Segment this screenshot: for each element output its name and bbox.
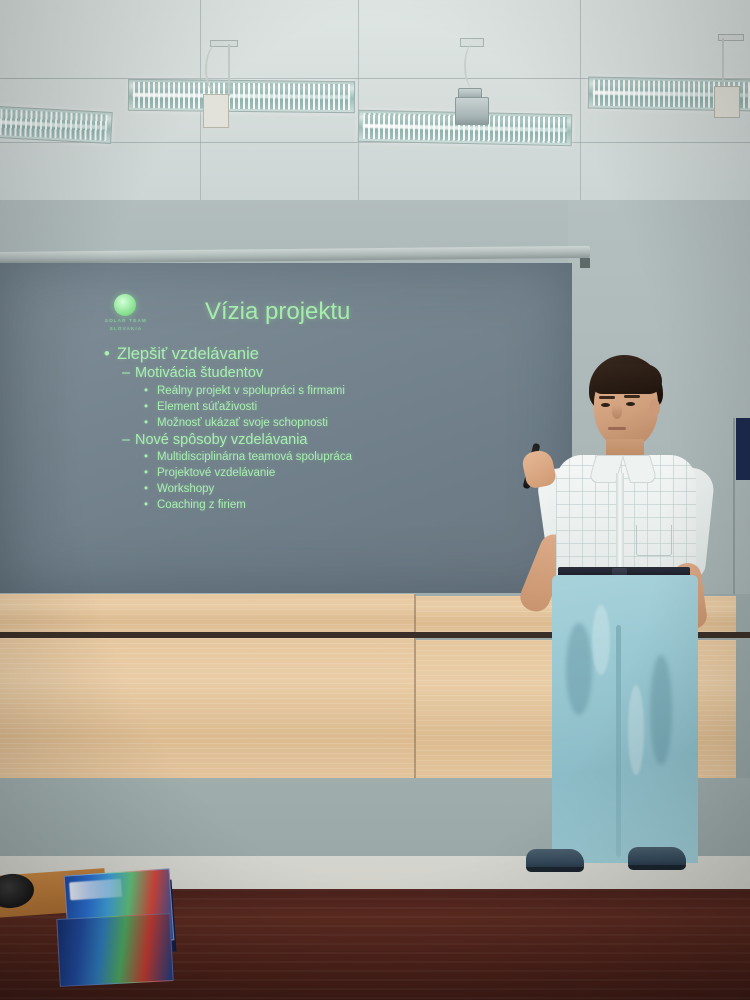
slide-bullet-list: •Zlepšiť vzdelávanie–Motivácia študentov… <box>104 344 524 513</box>
trouser-fold <box>650 655 672 765</box>
slide-bullet-level-3: •Workshopy <box>104 481 524 497</box>
bullet-text: Nové spôsoby vzdelávania <box>135 432 308 448</box>
wood-panel-lower-left <box>0 638 416 778</box>
slide-bullet-level-2: –Motivácia študentov <box>104 364 524 383</box>
shoe-sole-left <box>526 867 584 872</box>
screen-roller-cap <box>580 258 590 268</box>
wood-seam <box>414 594 416 634</box>
bullet-text: Reálny projekt v spolupráci s firmami <box>157 385 345 397</box>
logo-line-1: SOLAR TEAM <box>99 318 153 323</box>
bullet-marker-icon: • <box>144 449 157 465</box>
bullet-marker-icon: • <box>144 481 157 497</box>
slide-bullet-level-2: –Nové spôsoby vzdelávania <box>104 431 524 450</box>
bullet-marker-icon: • <box>144 415 157 431</box>
bullet-text: Zlepšiť vzdelávanie <box>117 345 259 363</box>
slide-bullet-level-3: •Element súťaživosti <box>104 399 524 415</box>
trouser-fold <box>566 623 592 715</box>
wood-seam <box>414 638 416 780</box>
bullet-marker-icon: • <box>144 465 157 481</box>
bullet-marker-icon: – <box>122 364 135 383</box>
slide-title: Vízia projektu <box>205 298 350 326</box>
mouth <box>608 427 626 430</box>
product-box-bottom <box>56 913 173 987</box>
eyebrow <box>624 395 640 398</box>
shirt-pocket <box>636 525 672 556</box>
wood-panel-upper-left <box>0 594 416 632</box>
slide-bullet-level-3: •Projektové vzdelávanie <box>104 465 524 481</box>
bullet-marker-icon: • <box>144 497 157 513</box>
bullet-text: Coaching z firiem <box>157 499 246 511</box>
wall-edge-line <box>733 418 735 600</box>
bullet-text: Workshopy <box>157 483 214 495</box>
bullet-text: Projektové vzdelávanie <box>157 467 275 479</box>
slide-bullet-level-3: •Možnosť ukázať svoje schopnosti <box>104 415 524 431</box>
wall-dark-panel <box>736 418 750 480</box>
bullet-text: Multidisciplinárna teamová spolupráca <box>157 451 352 463</box>
logo-line-2: SLOVAKIA <box>99 326 153 331</box>
bullet-text: Element súťaživosti <box>157 401 257 413</box>
slide-bullet-level-1: •Zlepšiť vzdelávanie <box>104 344 524 364</box>
bullet-text: Možnosť ukázať svoje schopnosti <box>157 417 328 429</box>
solar-team-logo-icon <box>114 294 136 316</box>
trousers <box>552 575 698 863</box>
hair-front <box>592 364 662 394</box>
shoe-sole-right <box>628 865 686 870</box>
ceiling-projector <box>455 97 489 125</box>
eye <box>601 403 610 407</box>
ear <box>649 399 660 416</box>
suspension-wire <box>228 44 230 96</box>
junction-box <box>203 94 229 128</box>
eyebrow <box>599 396 615 399</box>
trouser-highlight <box>628 685 644 775</box>
bullet-marker-icon: • <box>144 383 157 399</box>
projector-drop-wire <box>464 44 482 88</box>
slide-bullet-level-3: •Coaching z firiem <box>104 497 524 513</box>
slide-bullet-level-3: •Multidisciplinárna teamová spolupráca <box>104 449 524 465</box>
bullet-text: Motivácia študentov <box>135 365 263 381</box>
bullet-marker-icon: • <box>104 344 117 364</box>
presentation-photo: SOLAR TEAM SLOVAKIA Vízia projektu •Zlep… <box>0 0 750 1000</box>
suspension-wire <box>722 38 724 86</box>
bullet-marker-icon: • <box>144 399 157 415</box>
slide-bullet-level-3: •Reálny projekt v spolupráci s firmami <box>104 383 524 399</box>
ceiling-light-fixture <box>128 79 355 113</box>
bullet-marker-icon: – <box>122 431 135 450</box>
eye <box>626 402 635 406</box>
nose <box>612 405 622 419</box>
trouser-highlight <box>592 605 610 675</box>
presenter <box>500 355 730 875</box>
trouser-inseam <box>616 625 621 857</box>
junction-box <box>714 86 740 118</box>
